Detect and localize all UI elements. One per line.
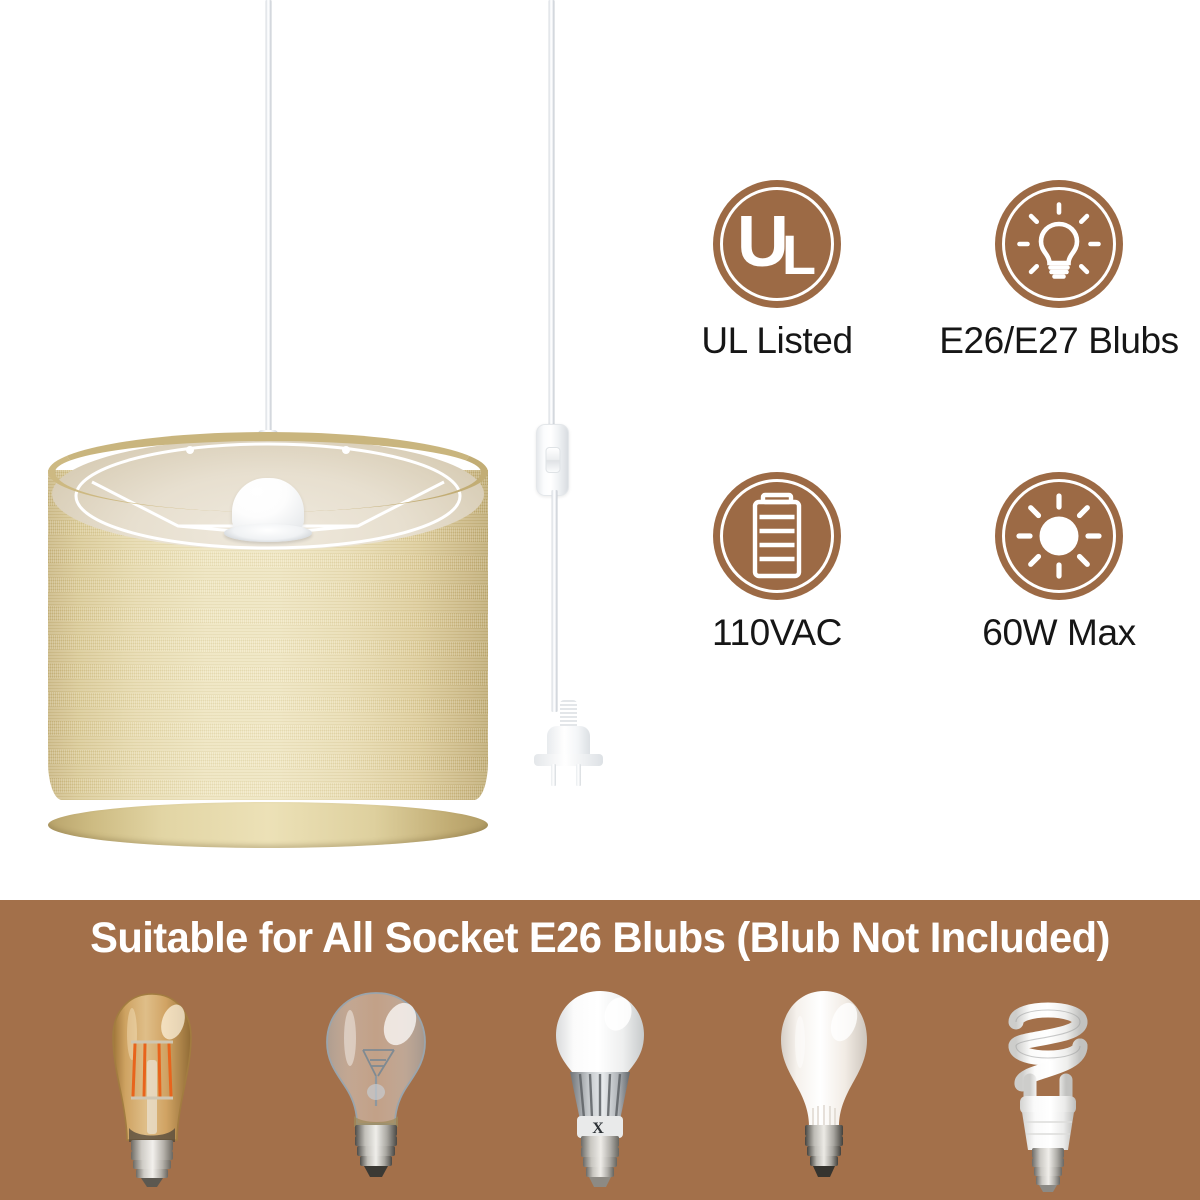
switch-rocker[interactable] bbox=[545, 447, 560, 473]
feature-label-bulb-base: E26/E27 Blubs bbox=[939, 322, 1179, 361]
lightbulb-icon bbox=[995, 180, 1123, 308]
bulb-frosted-incandescent bbox=[724, 982, 924, 1194]
svg-text:X: X bbox=[592, 1120, 604, 1137]
feature-wattage: 60W Max bbox=[918, 472, 1200, 720]
feature-label-wattage: 60W Max bbox=[982, 614, 1135, 653]
feature-badge-grid: UL UL Listed bbox=[636, 180, 1200, 720]
ul-certification-icon: UL bbox=[713, 180, 841, 308]
bulb-clear-incandescent bbox=[276, 982, 476, 1194]
ul-letter-l: L bbox=[782, 223, 813, 286]
feature-label-voltage: 110VAC bbox=[712, 614, 842, 653]
banner-title: Suitable for All Socket E26 Blubs (Blub … bbox=[18, 914, 1182, 963]
power-cord-lower bbox=[551, 490, 558, 712]
plug-prong-left bbox=[551, 764, 556, 786]
bulb-cfl-spiral bbox=[948, 982, 1148, 1194]
bulb-led: X bbox=[500, 982, 700, 1194]
bulb-row: X bbox=[0, 974, 1200, 1198]
two-prong-plug bbox=[524, 700, 612, 786]
product-infographic: UL UL Listed bbox=[0, 0, 1200, 1200]
bulb-edison-filament bbox=[52, 982, 252, 1194]
feature-voltage: 110VAC bbox=[636, 472, 918, 720]
plug-prong-right bbox=[576, 764, 581, 786]
feature-ul-listed: UL UL Listed bbox=[636, 180, 918, 428]
sun-brightness-icon bbox=[995, 472, 1123, 600]
plug-flange bbox=[534, 754, 603, 766]
battery-icon bbox=[713, 472, 841, 600]
power-cord-assembly bbox=[0, 0, 640, 900]
compatible-bulbs-banner: Suitable for All Socket E26 Blubs (Blub … bbox=[0, 900, 1200, 1200]
pendant-lamp-photo bbox=[0, 0, 640, 900]
feature-label-ul-listed: UL Listed bbox=[701, 322, 852, 361]
power-cord-upper bbox=[548, 0, 555, 428]
inline-rocker-switch[interactable] bbox=[536, 424, 569, 496]
feature-bulb-base: E26/E27 Blubs bbox=[918, 180, 1200, 428]
ul-wordmark: UL bbox=[737, 206, 817, 278]
ul-letter-u: U bbox=[737, 202, 786, 282]
